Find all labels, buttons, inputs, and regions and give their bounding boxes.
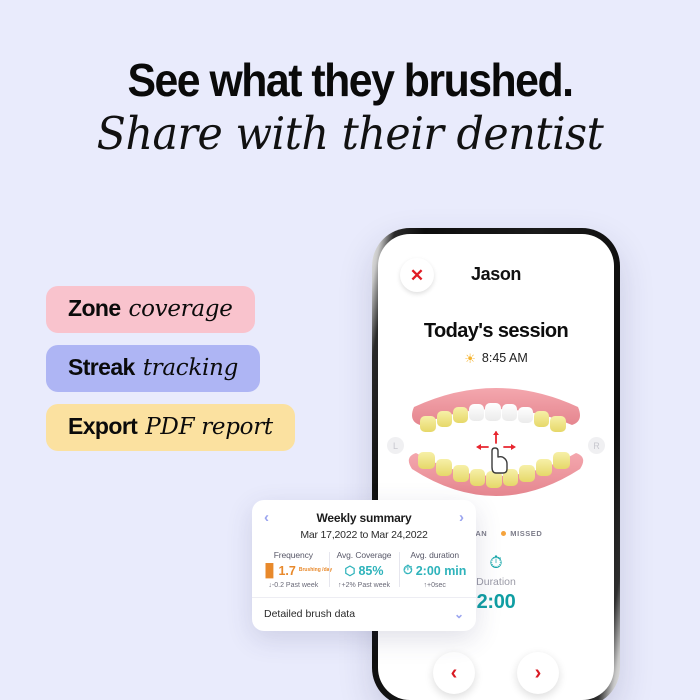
feature-pill-bold-label: Zone: [68, 295, 121, 322]
headline: See what they brushed. Share with their …: [0, 56, 700, 162]
stat-frequency: Frequency ▊ 1.7 Brushing /day ↓-0.2 Past…: [258, 550, 329, 589]
feature-pill-italic-label: PDF report: [145, 414, 273, 440]
stat-value-row: ▊ 1.7 Brushing /day: [260, 563, 327, 578]
stat-value: 2:00 min: [416, 564, 467, 578]
chevron-right-icon[interactable]: ›: [459, 510, 464, 525]
feature-pill-list: Zone coverage Streak tracking Export PDF…: [46, 286, 295, 451]
feature-pill-bold-label: Streak: [68, 354, 135, 381]
session-heading: Today's session: [378, 320, 614, 343]
stat-delta: ↓-0.2 Past week: [260, 582, 327, 589]
weekly-summary-stats: Frequency ▊ 1.7 Brushing /day ↓-0.2 Past…: [252, 550, 476, 597]
stat-avg-duration: Avg. duration ⏱ 2:00 min ↑+0sec: [399, 550, 470, 589]
stat-value-row: ⬡ 85%: [331, 563, 398, 578]
stat-delta: ↑+0sec: [401, 582, 468, 589]
stat-avg-coverage: Avg. Coverage ⬡ 85% ↑+2% Past week: [329, 550, 400, 589]
next-session-button[interactable]: ›: [517, 652, 559, 694]
stat-label: Avg. Coverage: [331, 550, 398, 560]
feature-pill-italic-label: tracking: [143, 355, 238, 381]
detailed-brush-data-row[interactable]: Detailed brush data ⌄: [252, 597, 476, 631]
legend-dot-icon: [501, 531, 506, 536]
headline-line-1: See what they brushed.: [25, 56, 676, 105]
weekly-summary-title: Weekly summary: [316, 511, 411, 525]
stat-unit: Brushing /day: [299, 568, 321, 573]
session-nav: ‹ ›: [378, 652, 614, 694]
legend-item-missed: MISSED: [501, 529, 542, 538]
legend-label: MISSED: [510, 529, 542, 538]
weekly-summary-header: ‹ Weekly summary ›: [252, 510, 476, 525]
weekly-summary-date-range: Mar 17,2022 to Mar 24,2022: [252, 529, 476, 541]
sun-icon: ☀: [464, 352, 476, 365]
tooth-icon: ⬡: [345, 563, 356, 578]
session-time-label: 8:45 AM: [482, 351, 528, 365]
chevron-left-icon[interactable]: ‹: [264, 510, 269, 525]
page-title: Jason: [378, 264, 614, 285]
stat-delta: ↑+2% Past week: [331, 582, 398, 589]
feature-pill-streak-tracking[interactable]: Streak tracking: [46, 345, 260, 392]
prev-session-button[interactable]: ‹: [433, 652, 475, 694]
stat-value: 85%: [358, 564, 383, 578]
feature-pill-bold-label: Export: [68, 413, 137, 440]
stat-label: Frequency: [260, 550, 327, 560]
frequency-bar-icon: ▊: [266, 563, 276, 578]
stat-label: Avg. duration: [401, 550, 468, 560]
detailed-brush-data-label: Detailed brush data: [264, 608, 355, 620]
feature-pill-export-pdf-report[interactable]: Export PDF report: [46, 404, 295, 451]
weekly-summary-card: ‹ Weekly summary › Mar 17,2022 to Mar 24…: [252, 500, 476, 631]
stat-value: 1.7: [278, 564, 295, 578]
clock-icon: ⏱: [403, 563, 413, 578]
chevron-down-icon[interactable]: ⌄: [454, 607, 464, 621]
drag-gesture-icon: [472, 427, 520, 475]
stat-value-row: ⏱ 2:00 min: [401, 563, 468, 578]
feature-pill-zone-coverage[interactable]: Zone coverage: [46, 286, 255, 333]
feature-pill-italic-label: coverage: [129, 296, 233, 322]
session-time-row: ☀ 8:45 AM: [378, 351, 614, 365]
headline-line-2: Share with their dentist: [18, 107, 683, 162]
app-topbar: ✕ Jason: [378, 234, 614, 286]
